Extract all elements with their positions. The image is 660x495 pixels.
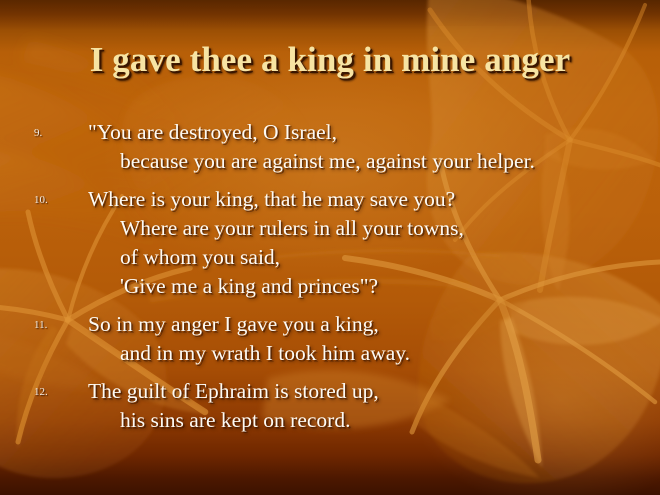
verse-line: and in my wrath I took him away. [88, 339, 660, 368]
verse-line: Where is your king, that he may save you… [88, 185, 660, 214]
verse-list: 9. "You are destroyed, O Israel, because… [0, 118, 660, 444]
slide-title: I gave thee a king in mine anger [0, 40, 660, 80]
verse-item: 9. "You are destroyed, O Israel, because… [0, 118, 660, 176]
verse-number: 11. [34, 319, 68, 331]
verse-line: The guilt of Ephraim is stored up, [88, 377, 660, 406]
verse-line: 'Give me a king and princes"? [88, 272, 660, 301]
verse-line: Where are your rulers in all your towns, [88, 214, 660, 243]
verse-item: 10. Where is your king, that he may save… [0, 185, 660, 301]
page-title: I gave thee a king in mine anger [90, 40, 571, 80]
presentation-slide: I gave thee a king in mine anger 9. "You… [0, 0, 660, 495]
verse-number: 9. [34, 127, 68, 139]
verse-line: So in my anger I gave you a king, [88, 310, 660, 339]
verse-line: "You are destroyed, O Israel, [88, 118, 660, 147]
verse-line: because you are against me, against your… [88, 147, 660, 176]
verse-item: 12. The guilt of Ephraim is stored up, h… [0, 377, 660, 435]
verse-line: his sins are kept on record. [88, 406, 660, 435]
verse-number: 10. [34, 194, 68, 206]
verse-line: of whom you said, [88, 243, 660, 272]
verse-number: 12. [34, 386, 68, 398]
verse-item: 11. So in my anger I gave you a king, an… [0, 310, 660, 368]
